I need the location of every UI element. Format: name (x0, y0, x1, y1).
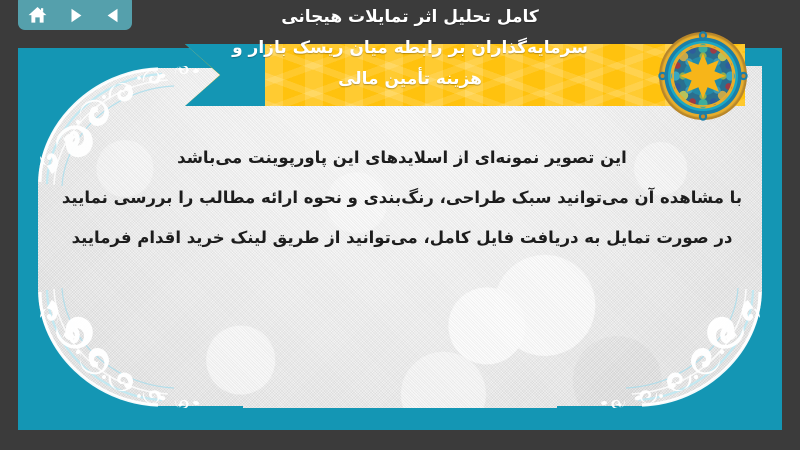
triangle-right-icon (67, 7, 84, 24)
banner-geometric-pattern (185, 44, 745, 106)
forward-button[interactable] (60, 3, 90, 27)
body-line-2: با مشاهده آن می‌توانید سبک طراحی، رنگ‌بن… (40, 178, 764, 218)
body-line-1: این تصویر نمونه‌ای از اسلایدهای این پاور… (40, 138, 764, 178)
title-banner (185, 44, 745, 106)
triangle-left-icon (105, 7, 122, 24)
home-button[interactable] (22, 3, 52, 27)
title-line-1: کامل تحلیل اثر تمایلات هیجانی (150, 0, 670, 33)
body-line-3: در صورت تمایل به دریافت فایل کامل، می‌تو… (40, 218, 764, 258)
slide-stage: کامل تحلیل اثر تمایلات هیجانی سرمایه‌گذا… (0, 0, 800, 450)
home-icon (28, 6, 47, 24)
navigation-bar (18, 0, 132, 30)
banner-teal-chevron (185, 44, 265, 106)
back-button[interactable] (98, 3, 128, 27)
body-text-block: این تصویر نمونه‌ای از اسلایدهای این پاور… (40, 138, 764, 258)
